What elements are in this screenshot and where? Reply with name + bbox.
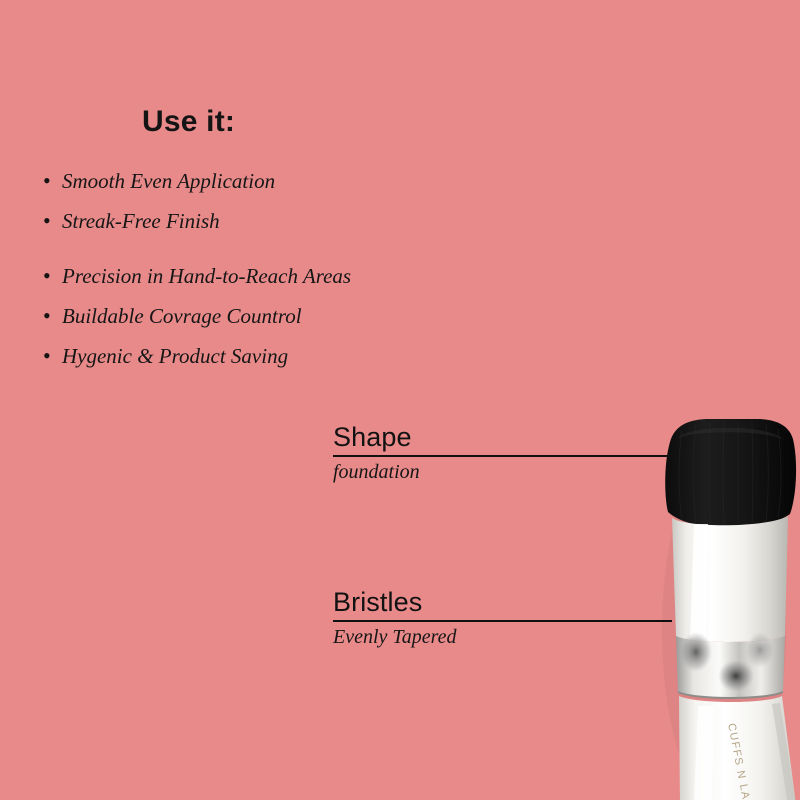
- bullet-icon: •: [38, 170, 62, 192]
- brush-bristles: [665, 419, 796, 528]
- list-item: • Streak-Free Finish: [38, 210, 508, 232]
- callout-title: Shape: [333, 423, 672, 452]
- benefits-list: • Smooth Even Application • Streak-Free …: [38, 170, 508, 385]
- list-item-label: Streak-Free Finish: [62, 210, 508, 232]
- handle-brand-text: CUFFS N LASHES: [725, 722, 758, 800]
- list-item: • Hygenic & Product Saving: [38, 345, 508, 367]
- callout-leader-line: [333, 455, 672, 457]
- list-item-label: Precision in Hand-to-Reach Areas: [62, 265, 508, 287]
- bullet-icon: •: [38, 345, 62, 367]
- list-item-label: Buildable Covrage Countrol: [62, 305, 508, 327]
- brush-handle: [679, 696, 796, 800]
- bullet-icon: •: [38, 305, 62, 327]
- callout-subtitle: foundation: [333, 461, 672, 483]
- list-item: • Precision in Hand-to-Reach Areas: [38, 265, 508, 287]
- brush-metal-crimp: [676, 636, 785, 698]
- list-item-label: Hygenic & Product Saving: [62, 345, 508, 367]
- callout-shape: Shape foundation: [333, 423, 672, 483]
- product-feature-poster: CUFFS N LASHES Use it: • Smooth Even App…: [0, 0, 800, 800]
- callout-title: Bristles: [333, 588, 672, 617]
- callout-subtitle: Evenly Tapered: [333, 626, 672, 648]
- callout-leader-line: [333, 620, 672, 622]
- bullet-icon: •: [38, 265, 62, 287]
- callout-bristles: Bristles Evenly Tapered: [333, 588, 672, 648]
- list-item: • Buildable Covrage Countrol: [38, 305, 508, 327]
- page-title: Use it:: [142, 107, 235, 137]
- brush-ferrule: [672, 516, 788, 642]
- list-item-label: Smooth Even Application: [62, 170, 508, 192]
- list-item: • Smooth Even Application: [38, 170, 508, 192]
- bullet-icon: •: [38, 210, 62, 232]
